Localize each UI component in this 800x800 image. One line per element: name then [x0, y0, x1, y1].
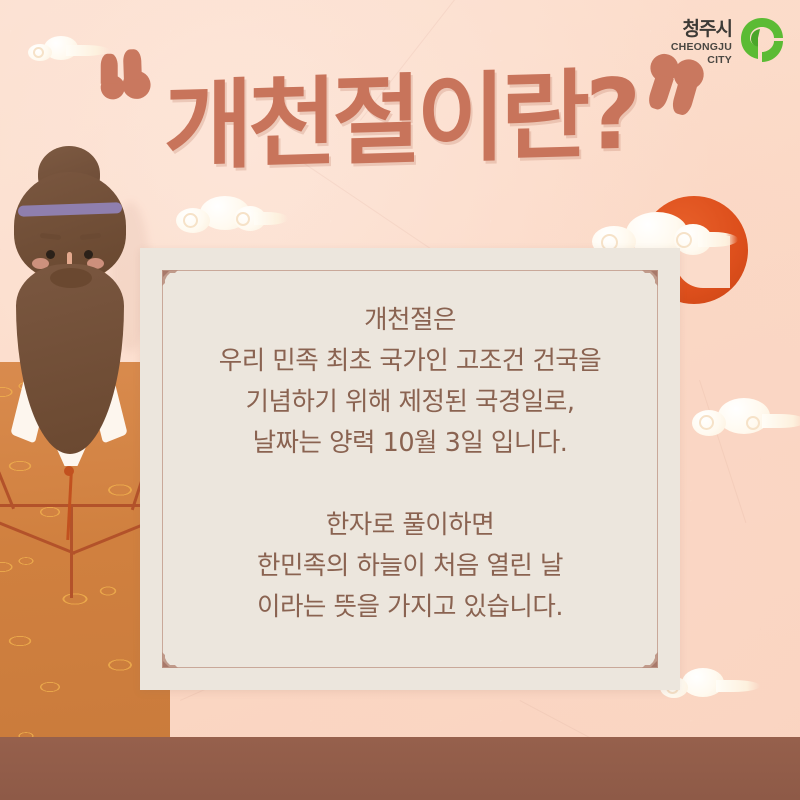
cheongju-logo-mark-icon [738, 16, 786, 69]
mustache [50, 268, 92, 288]
corner-ornament-icon [642, 270, 658, 286]
paragraph-1: 개천절은 우리 민족 최초 국가인 고조건 건국을 기념하기 위해 제정된 국경… [140, 300, 680, 464]
text-panel: 개천절은 우리 민족 최초 국가인 고조건 건국을 기념하기 위해 제정된 국경… [140, 248, 680, 690]
logo-name-ko: 청주시 [671, 20, 732, 39]
logo-text: 청주시 CHEONGJU CITY [671, 20, 732, 66]
cloud-icon [170, 196, 290, 234]
eye-left [46, 250, 55, 259]
logo-name-en-line2: CITY [671, 55, 732, 66]
cheongju-city-logo[interactable]: 청주시 CHEONGJU CITY [671, 16, 786, 69]
cloud-icon [690, 398, 800, 438]
corner-ornament-icon [162, 270, 178, 286]
corner-ornament-icon [642, 652, 658, 668]
logo-name-en-line1: CHEONGJU [671, 42, 732, 53]
infographic-card: 개천절이란? 청주시 CHEONGJU CITY [0, 0, 800, 800]
paragraph-2: 한자로 풀이하면 한민족의 하늘이 처음 열린 날 이라는 뜻을 가지고 있습니… [140, 505, 680, 628]
corner-ornament-icon [162, 652, 178, 668]
panel-body-text: 개천절은 우리 민족 최초 국가인 고조건 건국을 기념하기 위해 제정된 국경… [140, 300, 680, 628]
ground-strip [0, 737, 800, 800]
